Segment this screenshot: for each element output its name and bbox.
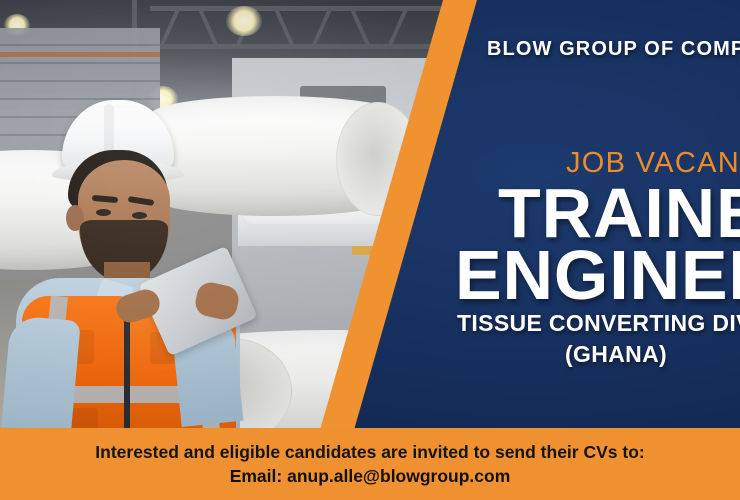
- ceiling-lamp-icon: [226, 6, 262, 36]
- worker-arm: [1, 315, 80, 430]
- job-vacancy-poster: BLOW GROUP OF COMPANIES JOB VACANCY TRAI…: [0, 0, 740, 500]
- company-name: BLOW GROUP OF COMPANIES: [487, 38, 740, 61]
- country-name: (GHANA): [565, 341, 667, 368]
- wall-stripe: [0, 52, 160, 57]
- worker-eye: [132, 212, 147, 219]
- division-name: TISSUE CONVERTING DIVISION: [457, 310, 740, 337]
- footer-email-text[interactable]: Email: anup.alle@blowgroup.com: [230, 466, 511, 487]
- worker-eye: [96, 209, 111, 216]
- job-title-line-2: ENGINEER: [455, 240, 740, 310]
- footer-instruction-text: Interested and eligible candidates are i…: [95, 442, 644, 463]
- roof-truss-icon: [150, 44, 450, 49]
- contact-footer-banner: Interested and eligible candidates are i…: [0, 428, 740, 500]
